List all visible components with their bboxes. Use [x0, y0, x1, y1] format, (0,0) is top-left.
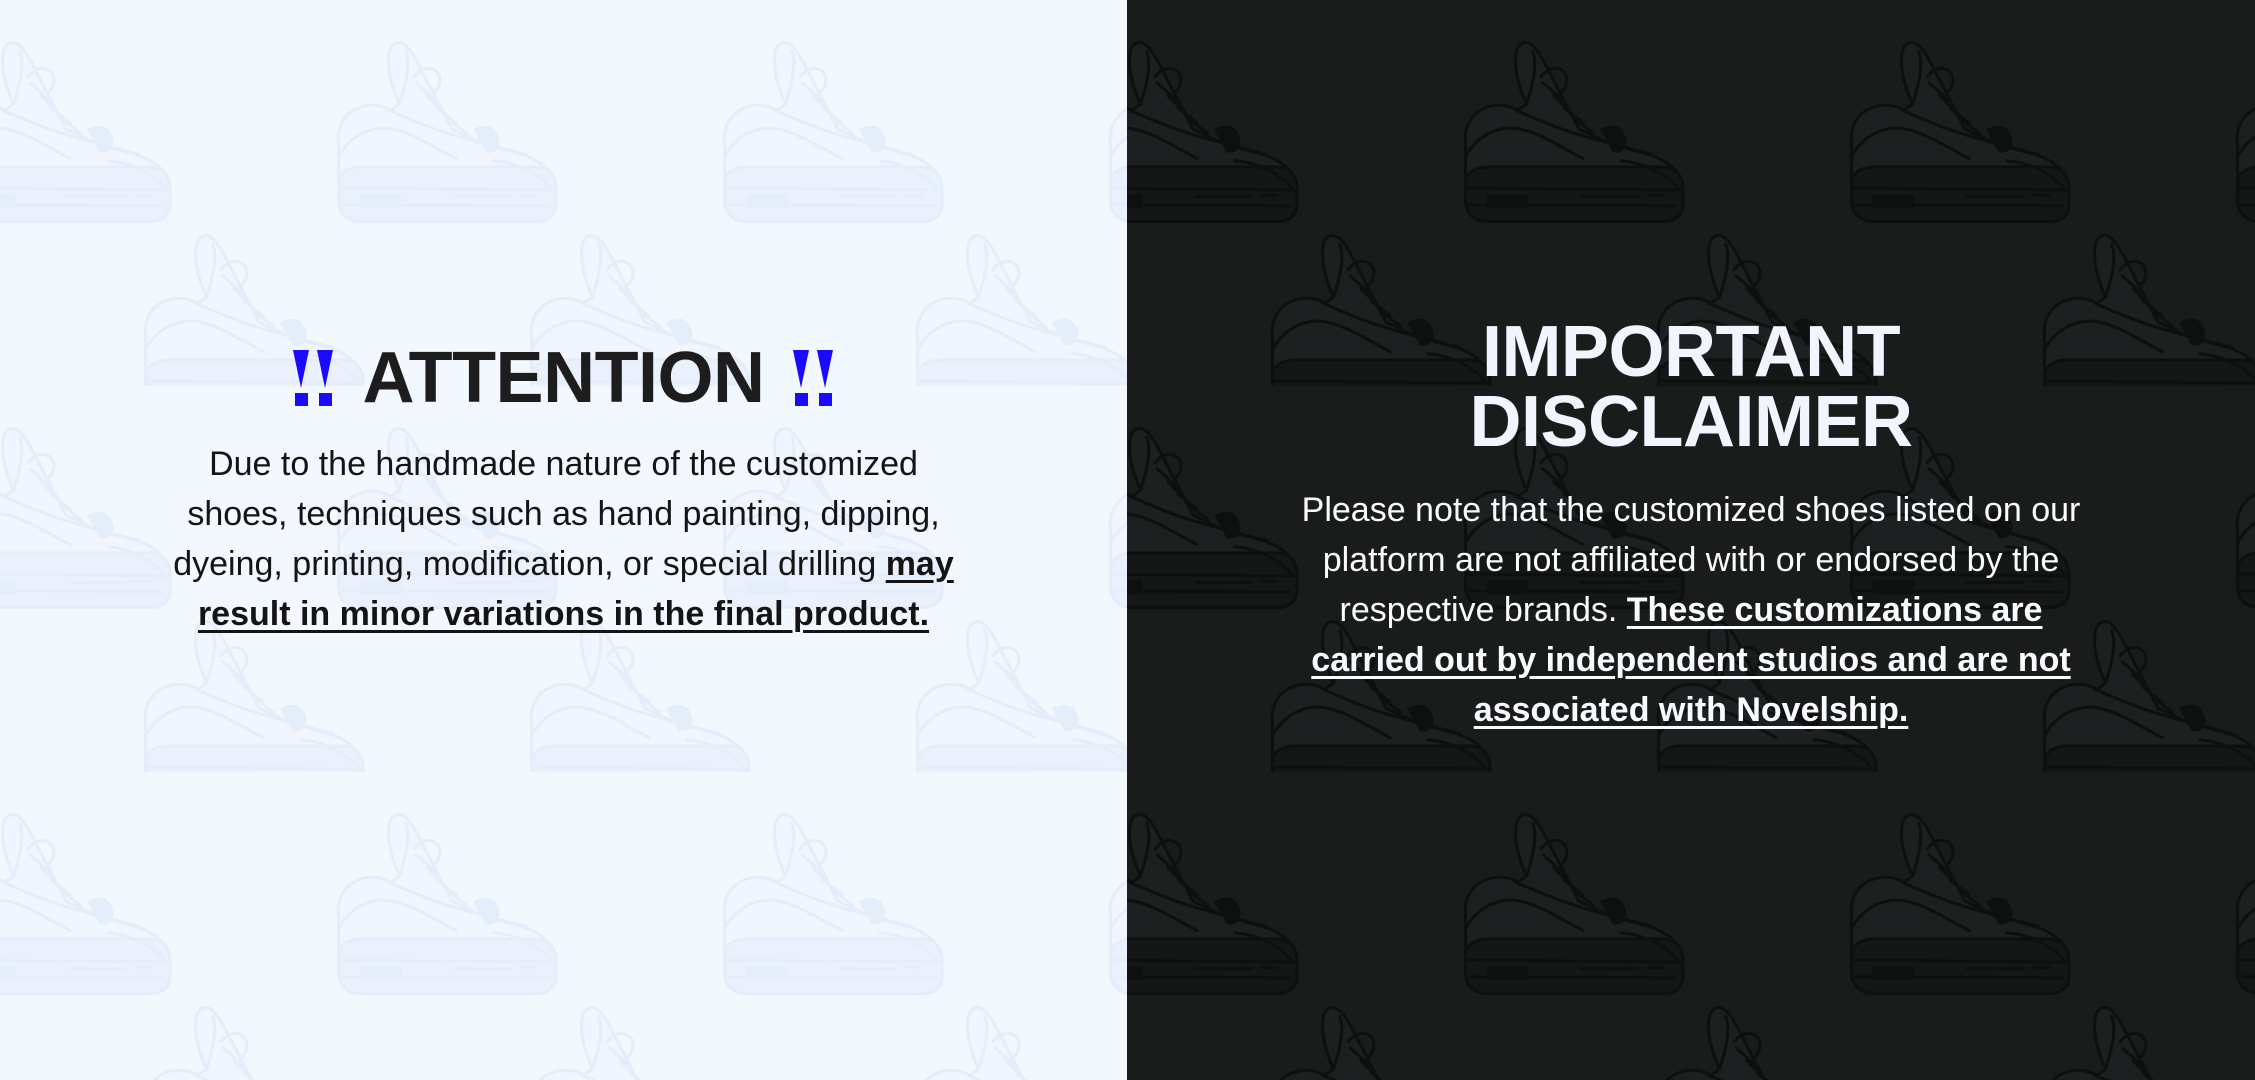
disclaimer-panel-content: IMPORTANT DISCLAIMER Please note that th… [1127, 0, 2255, 1080]
disclaimer-panel: IMPORTANT DISCLAIMER Please note that th… [1127, 0, 2255, 1080]
double-exclamation-icon-right [793, 350, 834, 406]
attention-body-normal: Due to the handmade nature of the custom… [173, 445, 939, 583]
attention-panel-content: ATTENTION Due to the handmade nature of … [0, 0, 1127, 1080]
exclamation-mark-icon [293, 350, 310, 406]
exclamation-mark-icon [817, 350, 834, 406]
disclaimer-heading: IMPORTANT DISCLAIMER [1470, 318, 1913, 458]
double-exclamation-icon-left [293, 350, 334, 406]
disclaimer-heading-line-1: IMPORTANT [1470, 318, 1913, 388]
exclamation-mark-icon [793, 350, 810, 406]
disclaimer-heading-line-2: DISCLAIMER [1470, 388, 1913, 458]
attention-heading: ATTENTION [293, 342, 833, 414]
disclaimer-banner: ATTENTION Due to the handmade nature of … [0, 0, 2255, 1080]
attention-panel: ATTENTION Due to the handmade nature of … [0, 0, 1127, 1080]
attention-body-text: Due to the handmade nature of the custom… [169, 440, 959, 640]
attention-heading-text: ATTENTION [362, 342, 764, 414]
exclamation-mark-icon [317, 350, 334, 406]
disclaimer-body-text: Please note that the customized shoes li… [1291, 486, 2091, 736]
